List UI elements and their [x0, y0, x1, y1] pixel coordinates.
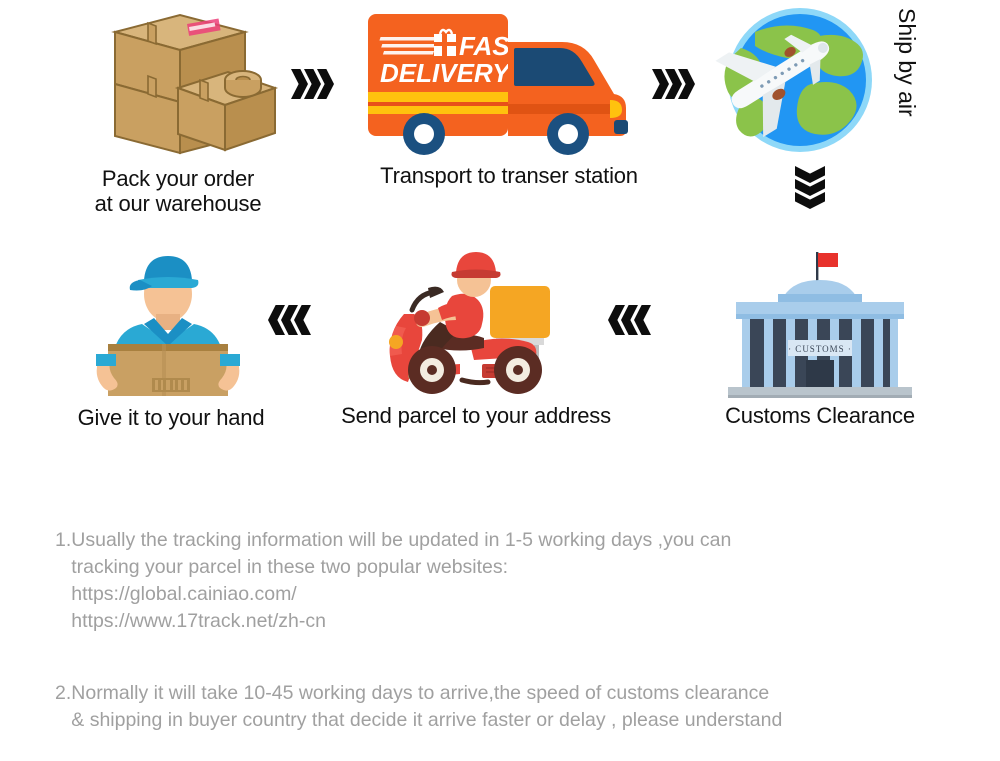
notes-block: 1. Usually the tracking information will…: [55, 500, 985, 761]
globe-airplane-icon: [715, 2, 885, 162]
step-transport-station: FAST DELIVERY Transport to transer stati…: [362, 8, 652, 158]
delivery-man-icon: [88, 250, 248, 400]
step-transport-station-caption: Transport to transer station: [344, 163, 674, 188]
step-customs-clearance-caption: Customs Clearance: [710, 403, 930, 428]
arrow-scooter-to-hand: [268, 305, 307, 335]
chevron-down-icon: [795, 166, 825, 183]
chevron-left-icon: [634, 305, 651, 335]
note-text: Usually the tracking information will be…: [71, 527, 985, 635]
cardboard-boxes-icon: [60, 10, 290, 160]
chevron-right-icon: [652, 69, 669, 99]
arrow-air-to-customs: [795, 166, 825, 205]
step-ship-by-air: [715, 2, 885, 162]
note-number: 2.: [55, 680, 71, 707]
step-send-parcel-caption: Send parcel to your address: [326, 403, 626, 428]
truck-logo-delivery: DELIVERY: [380, 58, 512, 88]
note-item: 1. Usually the tracking information will…: [55, 527, 985, 635]
step-send-parcel: Send parcel to your address: [378, 248, 578, 398]
step-pack-order-caption: Pack your order at our warehouse: [8, 166, 348, 216]
note-number: 1.: [55, 527, 71, 554]
arrow-transport-to-air: [652, 69, 691, 99]
arrow-customs-to-scooter: [608, 305, 647, 335]
shipping-process-infographic: Pack your order at our warehouse: [0, 0, 1000, 724]
step-give-to-hand-caption: Give it to your hand: [76, 405, 266, 430]
chevron-left-icon: [294, 305, 311, 335]
delivery-truck-icon: FAST DELIVERY: [362, 8, 652, 158]
step-ship-by-air-caption: Ship by air: [893, 8, 920, 117]
note-item: 2. Normally it will take 10-45 working d…: [55, 680, 985, 734]
step-customs-clearance: · CUSTOMS · Customs Clearance: [712, 248, 927, 398]
chevron-right-icon: [291, 69, 308, 99]
customs-building-sign: · CUSTOMS ·: [788, 344, 852, 354]
step-give-to-hand: Give it to your hand: [88, 250, 248, 400]
arrow-pack-to-transport: [291, 69, 330, 99]
step-pack-order: Pack your order at our warehouse: [60, 10, 290, 160]
note-text: Normally it will take 10-45 working days…: [71, 680, 985, 734]
customs-building-icon: · CUSTOMS ·: [712, 248, 927, 398]
scooter-courier-icon: [378, 248, 578, 398]
